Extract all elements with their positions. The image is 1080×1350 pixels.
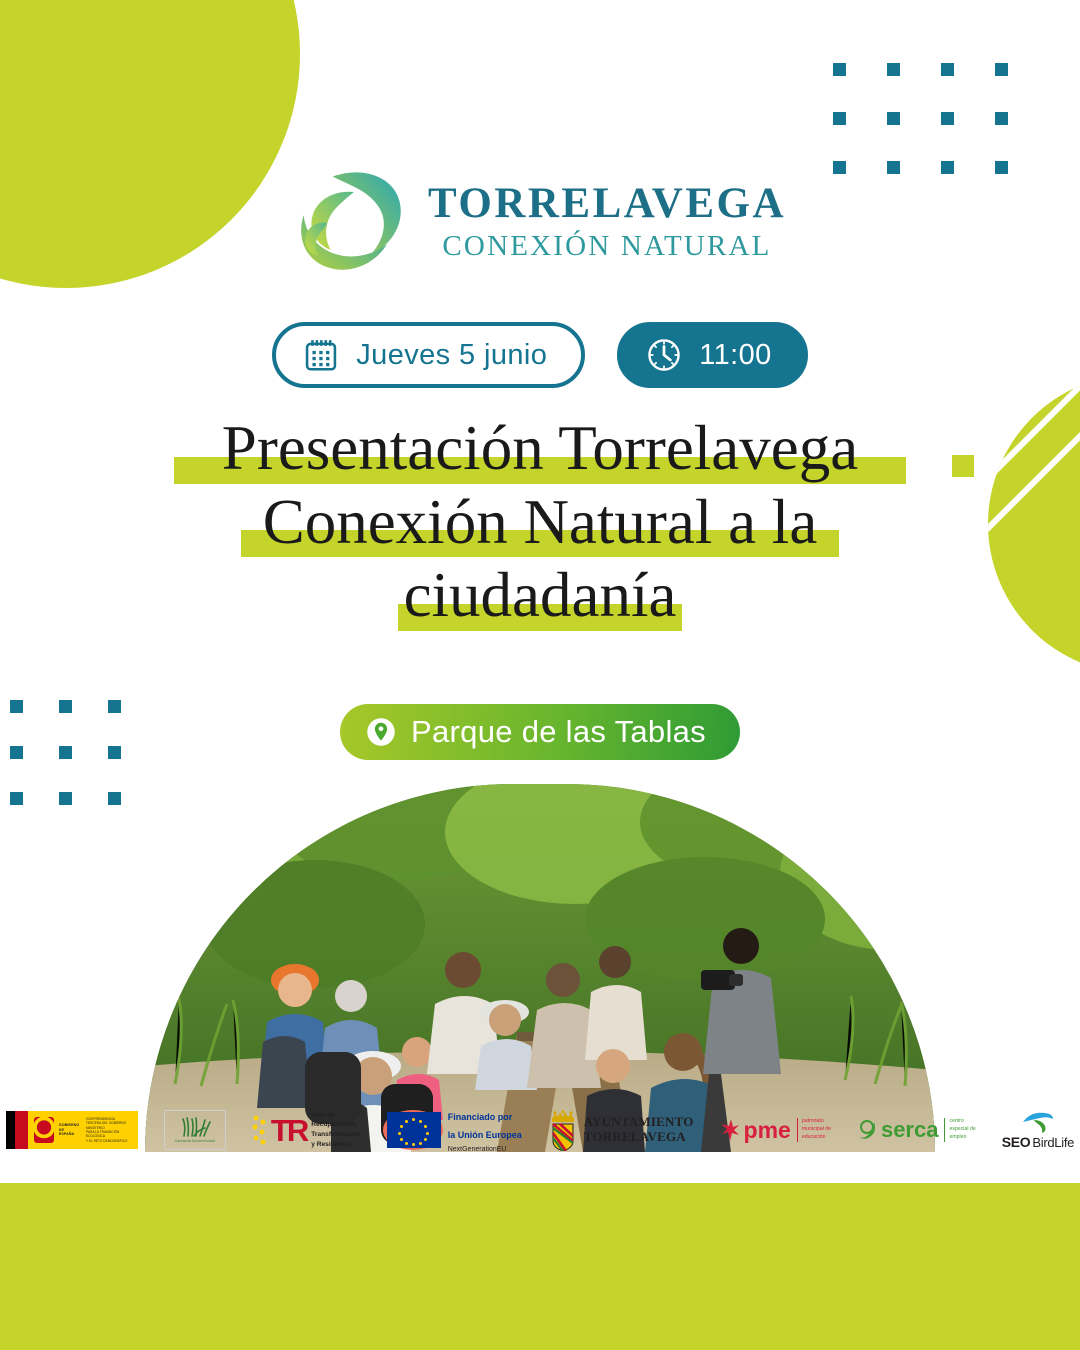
logo-cantabria-biodiversidad: Cantabria Biodiversidad xyxy=(164,1110,226,1150)
logo-gobierno-de-espana: GOBIERNO DE ESPAÑA VICEPRESIDENCIA TERCE… xyxy=(6,1111,138,1149)
logo-cantabria-caption: Cantabria Biodiversidad xyxy=(175,1139,216,1143)
location-pin-icon xyxy=(366,717,396,747)
logo-gobierno-ministry: VICEPRESIDENCIA TERCERA DEL GOBIERNO MIN… xyxy=(86,1117,138,1143)
logo-prtr-line3: Transformación xyxy=(311,1131,360,1138)
grass-icon xyxy=(178,1117,212,1137)
logo-ayuntamiento-text: AYUNTAMIENTO TORRELAVEGA xyxy=(584,1115,694,1144)
logo-prtr-line1: Plan de xyxy=(311,1112,334,1119)
logo-seo-word1: SEO xyxy=(1002,1134,1031,1150)
logo-gobierno-name: GOBIERNO DE ESPAÑA xyxy=(59,1123,80,1138)
logo-gobierno-line2: DE ESPAÑA xyxy=(59,1128,74,1137)
time-badge[interactable]: 11:00 xyxy=(617,322,807,388)
logo-pme-sub: patronato municipal de educación xyxy=(797,1118,831,1141)
logo-prtr-mark: TR xyxy=(271,1115,306,1146)
logo-ayuntamiento-torrelavega: AYUNTAMIENTO TORRELAVEGA xyxy=(548,1109,694,1151)
logo-serca-line2: especial de xyxy=(949,1126,975,1132)
serca-leaf-icon xyxy=(857,1119,877,1141)
logo-seo-word2: BirdLife xyxy=(1032,1135,1074,1150)
logo-serca-line1: centro xyxy=(949,1118,963,1124)
brand-title: TORRELAVEGA xyxy=(428,182,786,225)
eu-flag-icon xyxy=(387,1112,441,1148)
spain-coat-of-arms-icon xyxy=(34,1117,54,1143)
logo-serca-sub: centro especial de empleo xyxy=(944,1118,975,1141)
logo-eu-text: Financiado por la Unión Europea NextGene… xyxy=(448,1107,522,1153)
logo-prtr-text: Plan de Recuperación, Transformación y R… xyxy=(311,1111,360,1149)
leaf-circle-logo-icon xyxy=(294,163,410,279)
logo-ayuntamiento-line1: AYUNTAMIENTO xyxy=(584,1114,694,1129)
logo-prtr-line2: Recuperación, xyxy=(311,1121,356,1128)
logo-pme-line2: municipal de xyxy=(802,1126,831,1132)
logo-union-europea: Financiado por la Unión Europea NextGene… xyxy=(387,1107,522,1153)
logo-serca-line3: empleo xyxy=(949,1134,966,1140)
brand-lockup: TORRELAVEGA CONEXIÓN NATURAL xyxy=(294,163,786,279)
calendar-icon xyxy=(302,336,340,374)
logo-gobierno-line6: PARA LA TRANSICIÓN ECOLÓGICA xyxy=(86,1130,119,1138)
logo-prtr-line4: y Resiliencia xyxy=(311,1141,351,1148)
time-badge-label: 11:00 xyxy=(699,339,771,372)
date-badge[interactable]: Jueves 5 junio xyxy=(272,322,585,388)
location-badge[interactable]: Parque de las Tablas xyxy=(340,704,740,760)
headline-line-1: Presentación Torrelavega xyxy=(216,412,864,486)
dots-column-icon xyxy=(252,1113,266,1147)
logo-eu-headline: Financiado por la Unión Europea xyxy=(448,1112,522,1140)
logo-plan-de-recuperacion: TR Plan de Recuperación, Transformación … xyxy=(252,1111,361,1149)
logo-gobierno-line1: GOBIERNO xyxy=(59,1123,79,1127)
poster-canvas: TORRELAVEGA CONEXIÓN NATURAL xyxy=(0,0,1080,1350)
logo-ayuntamiento-line2: TORRELAVEGA xyxy=(584,1129,686,1144)
location-badge-label: Parque de las Tablas xyxy=(411,714,706,750)
logo-serca: serca centro especial de empleo xyxy=(857,1118,976,1141)
torrelavega-crest-icon xyxy=(548,1109,578,1151)
clock-icon xyxy=(645,336,683,374)
headline-line-2: Conexión Natural a la xyxy=(257,486,824,560)
logo-eu-line3: NextGenerationEU xyxy=(448,1146,522,1153)
logo-pme-line1: patronato xyxy=(802,1118,824,1124)
logo-eu-line1: Financiado por xyxy=(448,1112,513,1122)
date-badge-label: Jueves 5 junio xyxy=(356,339,547,372)
logo-gobierno-line7: Y EL RETO DEMOGRÁFICO xyxy=(86,1139,127,1143)
spain-flag-stripe-icon xyxy=(15,1111,28,1149)
brand-subtitle: CONEXIÓN NATURAL xyxy=(428,232,786,261)
date-time-row: Jueves 5 junio 11:00 xyxy=(272,322,807,388)
footer-logo-strip: GOBIERNO DE ESPAÑA VICEPRESIDENCIA TERCE… xyxy=(0,1090,1080,1170)
page-title: Presentación Torrelavega Conexión Natura… xyxy=(90,412,990,633)
pme-star-icon xyxy=(720,1118,740,1142)
bottom-lime-bar xyxy=(0,1183,1080,1350)
brand-wordmark: TORRELAVEGA CONEXIÓN NATURAL xyxy=(428,182,786,261)
logo-pme-word: pme xyxy=(744,1119,791,1142)
poster-content: TORRELAVEGA CONEXIÓN NATURAL xyxy=(0,0,1080,1152)
logo-seo-birdlife: SEO BirdLife xyxy=(1002,1111,1074,1150)
logo-serca-word: serca xyxy=(881,1119,939,1141)
headline-line-3: ciudadanía xyxy=(398,559,683,633)
logo-pme-line3: educación xyxy=(802,1134,826,1140)
logo-pme: pme patronato municipal de educación xyxy=(720,1118,831,1142)
logo-eu-line2: la Unión Europea xyxy=(448,1130,522,1140)
logo-seo-wordmark: SEO BirdLife xyxy=(1002,1134,1074,1150)
bird-icon xyxy=(1021,1111,1055,1133)
